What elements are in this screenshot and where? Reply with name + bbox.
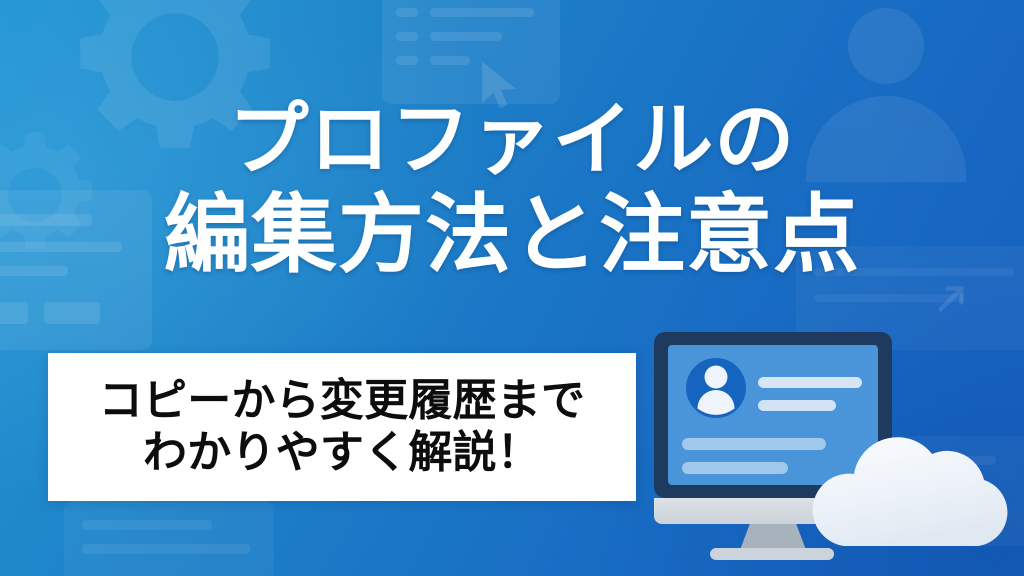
page-title: プロファイルの 編集方法と注意点: [0, 100, 1024, 278]
title-line-1: プロファイルの: [0, 100, 1024, 180]
subtitle-line-1: コピーから変更履歴まで: [99, 375, 585, 427]
title-line-2: 編集方法と注意点: [0, 192, 1024, 278]
subtitle-box: コピーから変更履歴まで わかりやすく解説！: [48, 353, 636, 501]
monitor-stand: [710, 518, 834, 560]
screen-text-bar: [682, 462, 788, 474]
subtitle-line-2: わかりやすく解説！: [143, 427, 541, 479]
screen-text-bar: [758, 400, 836, 411]
thumbnail-canvas: プロファイルの 編集方法と注意点 コピーから変更履歴まで わかりやすく解説！: [0, 0, 1024, 576]
avatar-head: [705, 366, 728, 389]
screen-text-bar: [758, 377, 862, 388]
screen-text-bar: [682, 438, 826, 450]
desktop-monitor-cloud-illustration: [648, 322, 1024, 576]
